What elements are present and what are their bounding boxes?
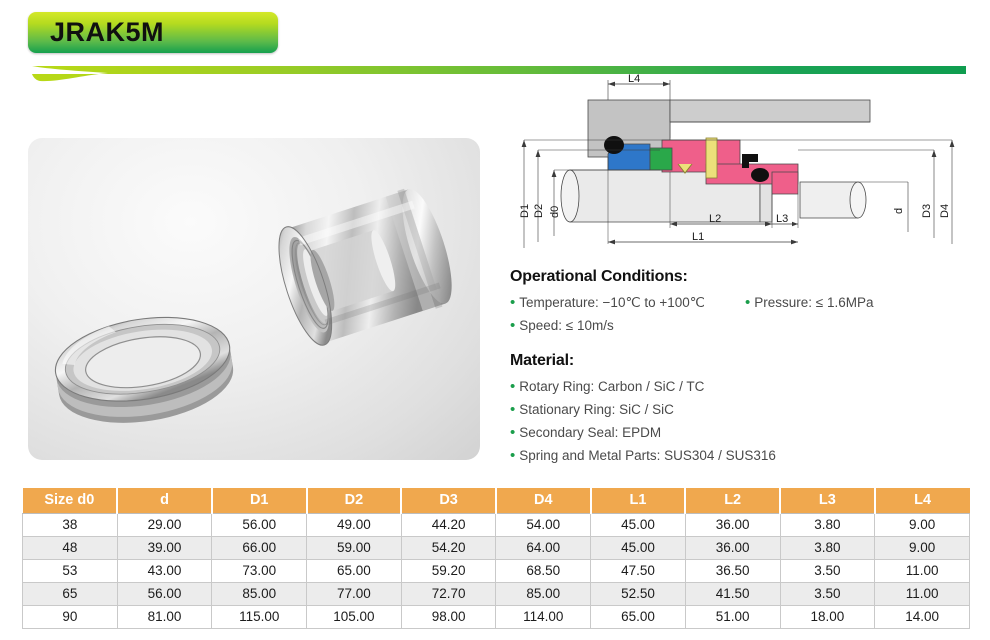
dim-label-L2: L2 xyxy=(709,213,721,225)
table-row: 9081.00115.00105.0098.00114.0065.0051.00… xyxy=(23,605,970,628)
table-cell-r0-c5: 54.00 xyxy=(496,513,591,536)
dim-label-L1: L1 xyxy=(692,231,704,243)
table-row: 5343.0073.0065.0059.2068.5047.5036.503.5… xyxy=(23,559,970,582)
table-cell-r4-c2: 115.00 xyxy=(212,605,307,628)
table-cell-r4-c3: 105.00 xyxy=(307,605,402,628)
condition-pressure: • Pressure: ≤ 1.6MPa xyxy=(745,293,873,313)
dim-label-D1: D1 xyxy=(519,204,531,218)
table-cell-r1-c8: 3.80 xyxy=(780,536,875,559)
table-col-header-7: L2 xyxy=(685,488,780,513)
table-col-header-0: Size d0 xyxy=(23,488,118,513)
table-cell-r1-c5: 64.00 xyxy=(496,536,591,559)
dim-label-L3: L3 xyxy=(776,213,788,225)
cross-section-drawing: L4 D1 D2 d0 d D3 D4 L2 L3 L1 xyxy=(510,72,980,257)
table-body: 3829.0056.0049.0044.2054.0045.0036.003.8… xyxy=(23,513,970,628)
table-cell-r1-c3: 59.00 xyxy=(307,536,402,559)
table-cell-r4-c0: 90 xyxy=(23,605,118,628)
table-cell-r3-c2: 85.00 xyxy=(212,582,307,605)
bullet-icon: • xyxy=(510,318,515,333)
table-cell-r1-c4: 54.20 xyxy=(401,536,496,559)
material-spring-metal-parts: • Spring and Metal Parts: SUS304 / SUS31… xyxy=(510,446,980,466)
table-cell-r1-c1: 39.00 xyxy=(117,536,212,559)
table-cell-r4-c8: 18.00 xyxy=(780,605,875,628)
table-cell-r1-c9: 9.00 xyxy=(875,536,970,559)
table-col-header-4: D3 xyxy=(401,488,496,513)
table-col-header-2: D1 xyxy=(212,488,307,513)
condition-speed: • Speed: ≤ 10m/s xyxy=(510,316,745,336)
table-cell-r3-c9: 11.00 xyxy=(875,582,970,605)
table-row: 4839.0066.0059.0054.2064.0045.0036.003.8… xyxy=(23,536,970,559)
table-cell-r4-c4: 98.00 xyxy=(401,605,496,628)
condition-pressure-text: Pressure: ≤ 1.6MPa xyxy=(754,293,873,313)
bullet-icon: • xyxy=(745,295,750,310)
table-col-header-6: L1 xyxy=(591,488,686,513)
operational-conditions-row-2: • Speed: ≤ 10m/s xyxy=(510,316,980,339)
table-cell-r1-c7: 36.00 xyxy=(685,536,780,559)
page-title: JRAK5M xyxy=(50,17,164,48)
table-cell-r0-c6: 45.00 xyxy=(591,513,686,536)
table-cell-r4-c5: 114.00 xyxy=(496,605,591,628)
table-cell-r2-c4: 59.20 xyxy=(401,559,496,582)
table-row: 6556.0085.0077.0072.7085.0052.5041.503.5… xyxy=(23,582,970,605)
condition-speed-text: Speed: ≤ 10m/s xyxy=(519,316,613,336)
dim-label-D4: D4 xyxy=(939,204,951,218)
table-cell-r2-c3: 65.00 xyxy=(307,559,402,582)
material-heading: Material: xyxy=(510,352,980,370)
table-cell-r2-c5: 68.50 xyxy=(496,559,591,582)
operational-conditions-row-1: • Temperature: −10℃ to +100℃ • Pressure:… xyxy=(510,293,980,316)
table-cell-r3-c8: 3.50 xyxy=(780,582,875,605)
table-cell-r3-c5: 85.00 xyxy=(496,582,591,605)
dim-label-d0: d0 xyxy=(549,206,561,218)
material-stationary-ring: • Stationary Ring: SiC / SiC xyxy=(510,400,980,420)
table-col-header-1: d xyxy=(117,488,212,513)
table-cell-r3-c4: 72.70 xyxy=(401,582,496,605)
bullet-icon: • xyxy=(510,448,515,463)
table-col-header-3: D2 xyxy=(307,488,402,513)
material-rotary-ring: • Rotary Ring: Carbon / SiC / TC xyxy=(510,377,980,397)
table-cell-r2-c8: 3.50 xyxy=(780,559,875,582)
table-cell-r3-c1: 56.00 xyxy=(117,582,212,605)
bullet-icon: • xyxy=(510,402,515,417)
material-secondary-seal: • Secondary Seal: EPDM xyxy=(510,423,980,443)
table-cell-r3-c0: 65 xyxy=(23,582,118,605)
table-cell-r2-c2: 73.00 xyxy=(212,559,307,582)
dim-label-D2: D2 xyxy=(533,204,545,218)
dim-label-D3: D3 xyxy=(921,204,933,218)
table-cell-r0-c3: 49.00 xyxy=(307,513,402,536)
table-cell-r3-c7: 41.50 xyxy=(685,582,780,605)
table-row: 3829.0056.0049.0044.2054.0045.0036.003.8… xyxy=(23,513,970,536)
table-cell-r1-c6: 45.00 xyxy=(591,536,686,559)
table-cell-r4-c7: 51.00 xyxy=(685,605,780,628)
specifications-section: Operational Conditions: • Temperature: −… xyxy=(510,268,980,469)
table-cell-r0-c7: 36.00 xyxy=(685,513,780,536)
table-cell-r1-c2: 66.00 xyxy=(212,536,307,559)
condition-temperature-text: Temperature: −10℃ to +100℃ xyxy=(519,293,705,313)
condition-temperature: • Temperature: −10℃ to +100℃ xyxy=(510,293,745,313)
table-cell-r1-c0: 48 xyxy=(23,536,118,559)
dim-label-d: d xyxy=(893,208,905,214)
bullet-icon: • xyxy=(510,379,515,394)
table-cell-r4-c6: 65.00 xyxy=(591,605,686,628)
table-cell-r0-c4: 44.20 xyxy=(401,513,496,536)
table-cell-r2-c9: 11.00 xyxy=(875,559,970,582)
product-photo xyxy=(28,138,480,460)
table-cell-r0-c1: 29.00 xyxy=(117,513,212,536)
dimensions-table: Size d0dD1D2D3D4L1L2L3L4 3829.0056.0049.… xyxy=(22,488,970,629)
material-stationary-ring-text: Stationary Ring: SiC / SiC xyxy=(519,400,674,420)
table-cell-r2-c6: 47.50 xyxy=(591,559,686,582)
material-spring-metal-parts-text: Spring and Metal Parts: SUS304 / SUS316 xyxy=(519,446,776,466)
material-secondary-seal-text: Secondary Seal: EPDM xyxy=(519,423,661,443)
table-header-row: Size d0dD1D2D3D4L1L2L3L4 xyxy=(23,488,970,513)
table-cell-r0-c9: 9.00 xyxy=(875,513,970,536)
table-cell-r2-c0: 53 xyxy=(23,559,118,582)
table-cell-r0-c2: 56.00 xyxy=(212,513,307,536)
table-cell-r2-c7: 36.50 xyxy=(685,559,780,582)
dimensions-table-wrapper: Size d0dD1D2D3D4L1L2L3L4 3829.0056.0049.… xyxy=(22,488,970,629)
table-col-header-8: L3 xyxy=(780,488,875,513)
table-cell-r2-c1: 43.00 xyxy=(117,559,212,582)
operational-conditions-heading: Operational Conditions: xyxy=(510,268,980,286)
dim-label-L4: L4 xyxy=(628,73,640,85)
bullet-icon: • xyxy=(510,295,515,310)
material-rotary-ring-text: Rotary Ring: Carbon / SiC / TC xyxy=(519,377,704,397)
table-cell-r3-c6: 52.50 xyxy=(591,582,686,605)
table-col-header-5: D4 xyxy=(496,488,591,513)
table-col-header-9: L4 xyxy=(875,488,970,513)
table-cell-r3-c3: 77.00 xyxy=(307,582,402,605)
table-cell-r4-c9: 14.00 xyxy=(875,605,970,628)
product-title-badge: JRAK5M xyxy=(28,12,278,53)
table-cell-r0-c0: 38 xyxy=(23,513,118,536)
table-cell-r0-c8: 3.80 xyxy=(780,513,875,536)
datasheet-page: JRAK5M xyxy=(0,0,990,640)
table-cell-r4-c1: 81.00 xyxy=(117,605,212,628)
bullet-icon: • xyxy=(510,425,515,440)
